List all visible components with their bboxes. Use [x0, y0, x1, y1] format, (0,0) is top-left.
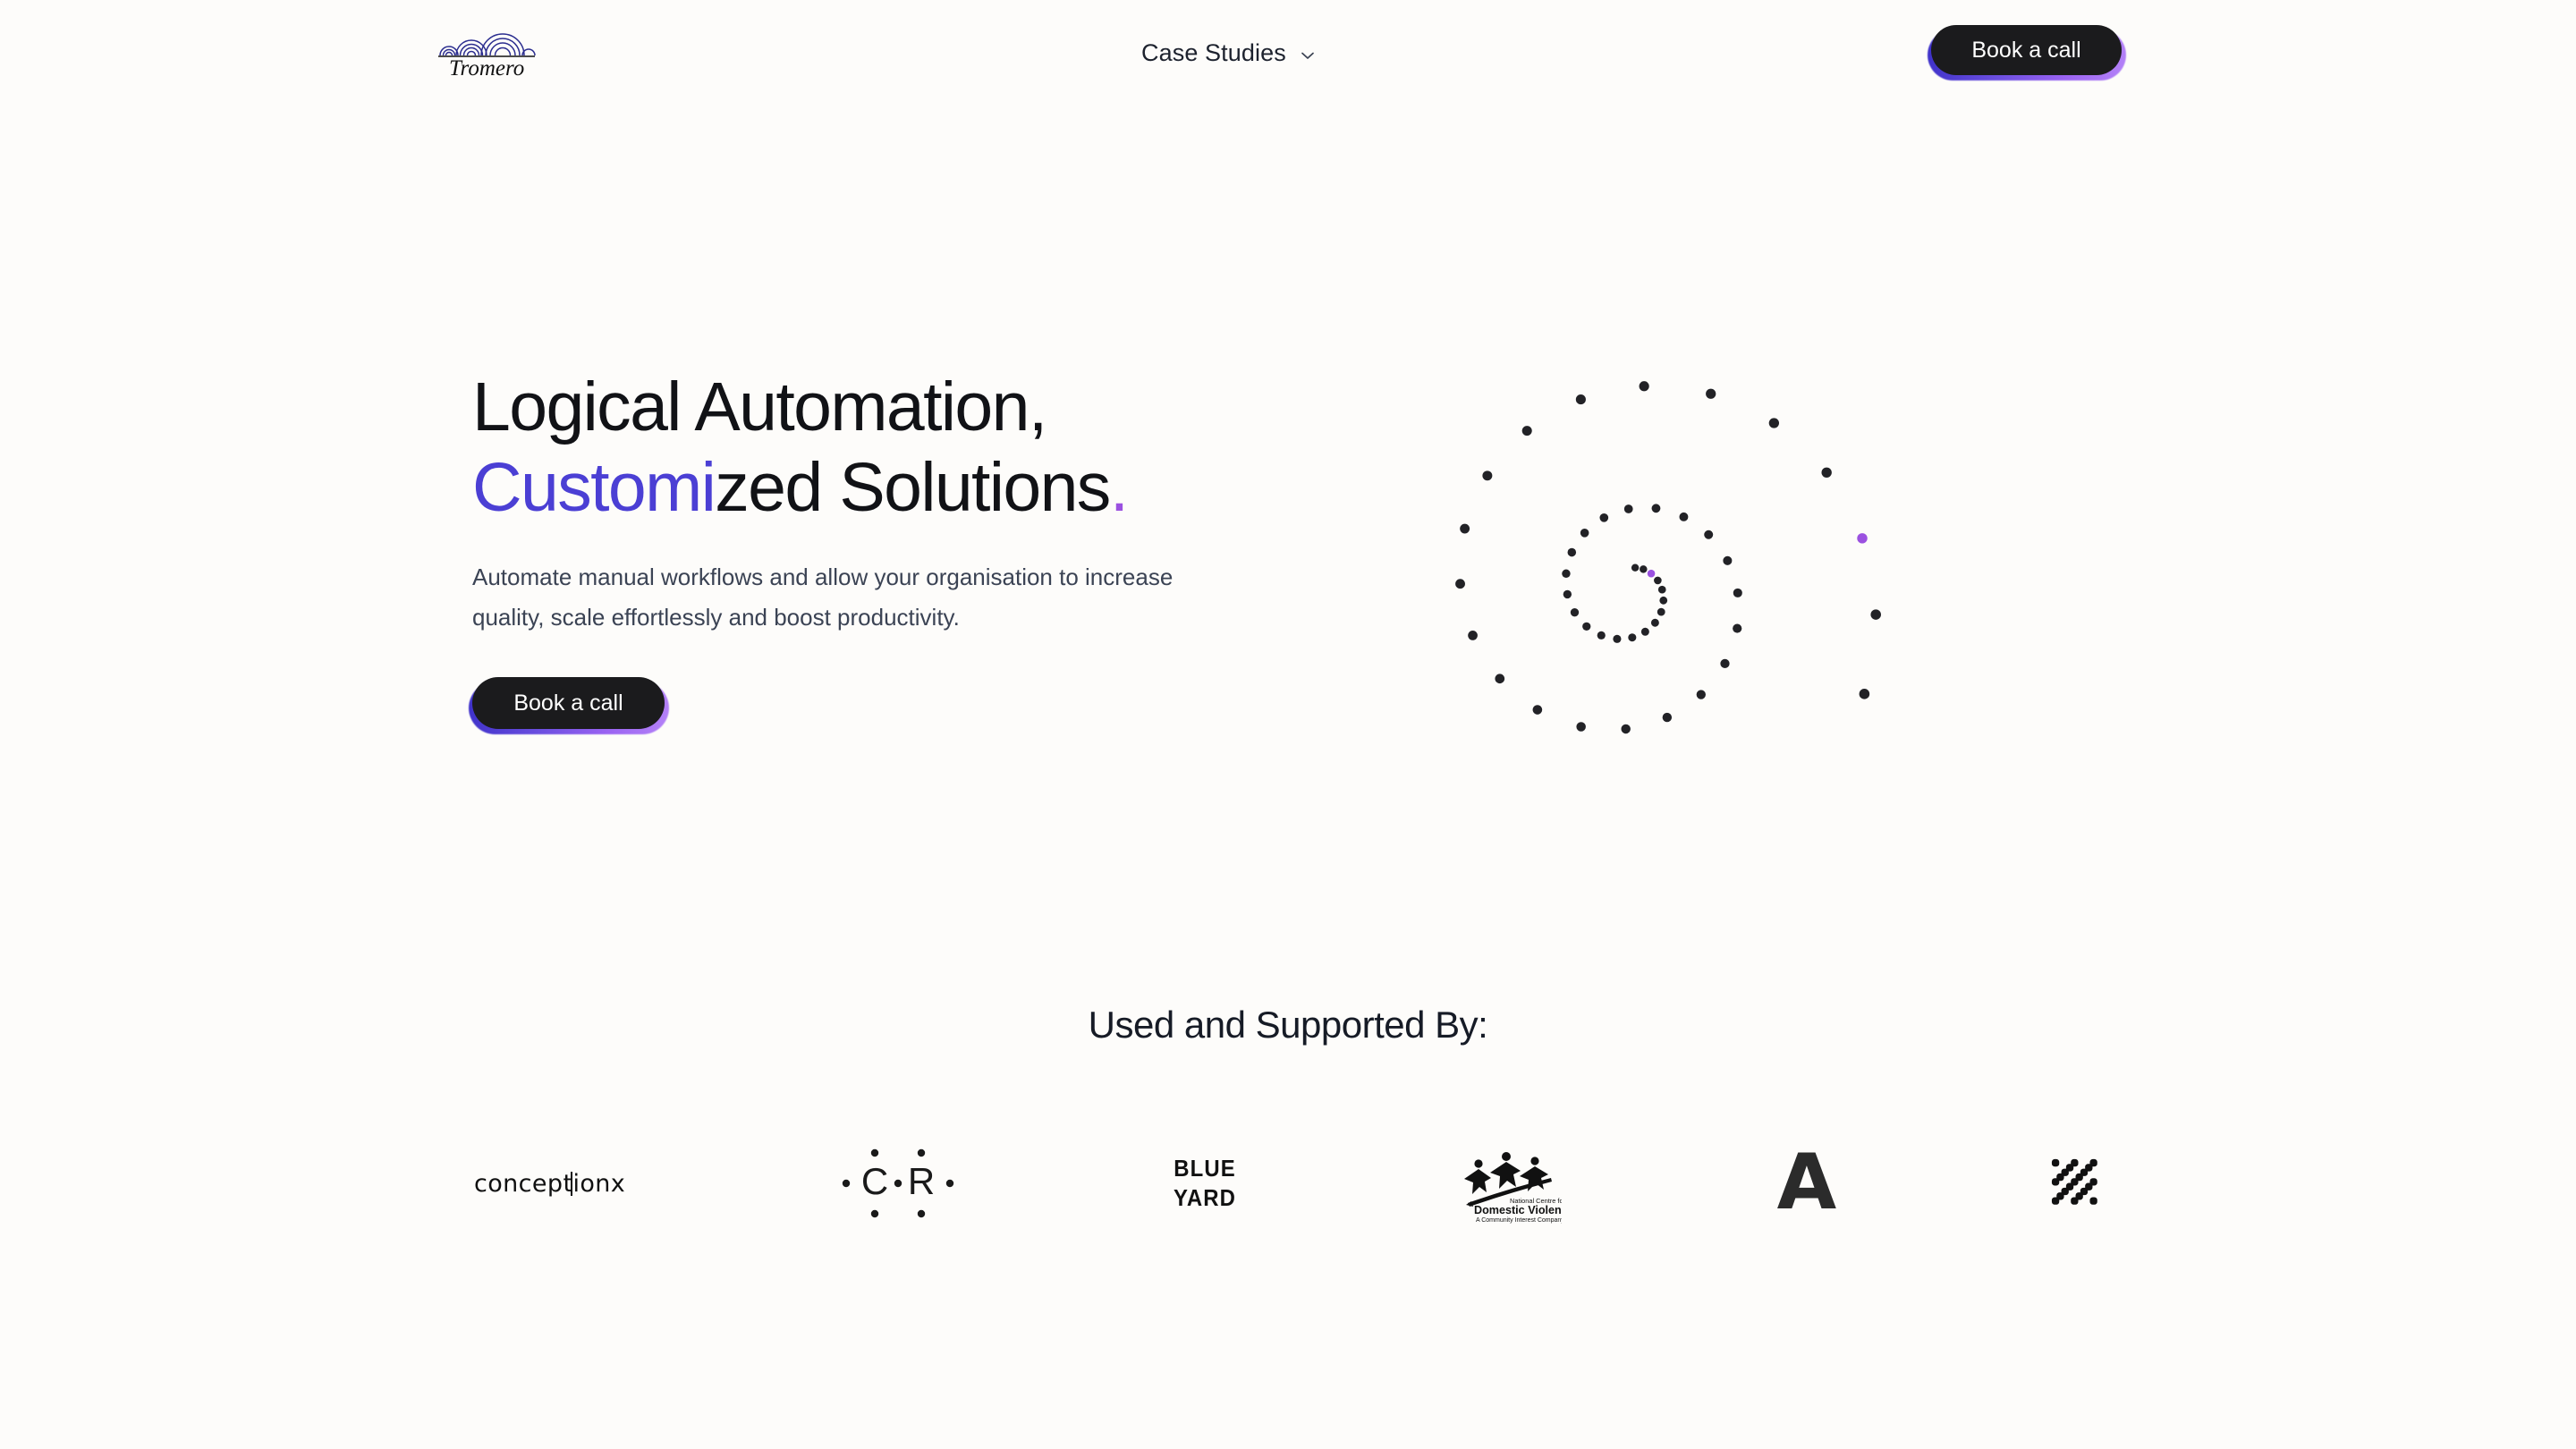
cr-letter-c: C: [861, 1160, 888, 1202]
blueyard-wordmark: BLUE YARD: [1174, 1154, 1236, 1213]
partners-logo-row: conceptionx C R BLUE YARD: [474, 1125, 2102, 1241]
brand-logo[interactable]: Tromero: [433, 20, 538, 79]
ncdv-line-3: A Community Interest Company: [1476, 1217, 1562, 1224]
headline-accent: Customi: [472, 449, 715, 526]
headline-line-1: Logical Automation,: [472, 369, 1046, 445]
hero-subcopy: Automate manual workflows and allow your…: [472, 557, 1215, 638]
headline-rest: zed Solutions: [715, 449, 1110, 526]
hero-section: Logical Automation, Customized Solutions…: [472, 367, 1367, 729]
conceptionx-tail-stroke: [571, 1172, 572, 1196]
page-title: Logical Automation, Customized Solutions…: [472, 367, 1367, 528]
partner-logo-ncdv[interactable]: National Centre for Domestic Violence A …: [1454, 1125, 1562, 1241]
conceptionx-wordmark: conceptionx: [474, 1170, 625, 1198]
partner-logo-conceptionx[interactable]: conceptionx: [474, 1125, 625, 1241]
conceptionx-label: conceptionx: [474, 1170, 625, 1198]
blueyard-line-1: BLUE: [1174, 1154, 1236, 1183]
nav-item-label: Case Studies: [1141, 39, 1286, 67]
tromero-cloud-arcs-logo: Tromero: [433, 20, 538, 79]
a-monogram-logo: A: [1777, 1148, 1835, 1217]
header-cta-label: Book a call: [1931, 25, 2122, 75]
ncdv-three-figures-logo: National Centre for Domestic Violence A …: [1454, 1142, 1562, 1224]
headline-period: .: [1110, 449, 1128, 526]
brand-wordmark: Tromero: [449, 56, 524, 79]
hero-spiral-graphic: [1422, 358, 1905, 769]
blueyard-line-2: YARD: [1174, 1183, 1236, 1213]
ncdv-line-2: Domestic Violence: [1474, 1204, 1562, 1216]
qr-lattice-logo: [2050, 1157, 2102, 1209]
cr-letter-r: R: [908, 1160, 935, 1202]
partners-heading: Used and Supported By:: [0, 1004, 2576, 1046]
cr-dotted-monogram: C R: [841, 1142, 955, 1224]
site-header: Tromero Case Studies Book a call: [0, 0, 2576, 107]
partner-logo-lattice[interactable]: [2050, 1125, 2102, 1241]
partner-logo-blueyard[interactable]: BLUE YARD: [1171, 1125, 1239, 1241]
hero-cta-label: Book a call: [472, 677, 665, 729]
dotted-spiral-graphic: [1422, 358, 1905, 769]
partner-logo-cr[interactable]: C R: [841, 1125, 955, 1241]
chevron-down-icon: [1299, 47, 1317, 64]
header-book-a-call-button[interactable]: Book a call: [1931, 25, 2122, 75]
nav-item-case-studies[interactable]: Case Studies: [1141, 39, 1317, 67]
partner-logo-a-monogram[interactable]: A: [1777, 1125, 1835, 1241]
hero-book-a-call-button[interactable]: Book a call: [472, 677, 665, 729]
headline-line-2: Customized Solutions.: [472, 447, 1367, 528]
